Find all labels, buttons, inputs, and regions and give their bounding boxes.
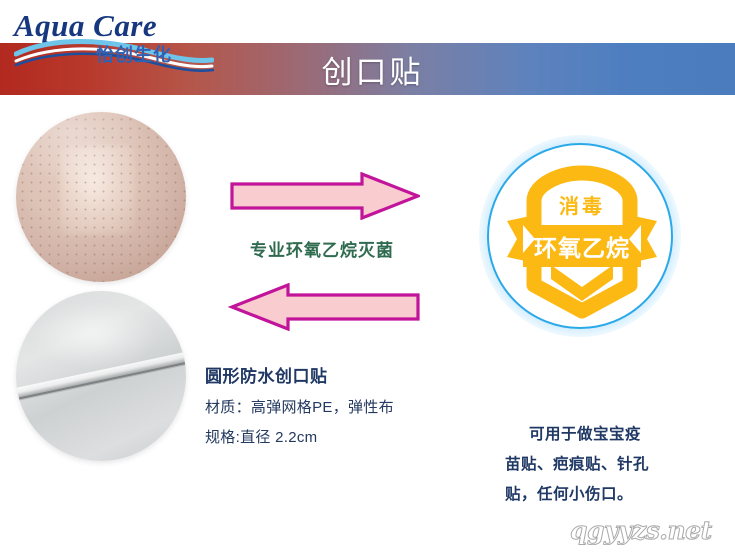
product-spec-size: 规格:直径 2.2cm xyxy=(205,426,475,447)
badge-circle: 消毒 环氧乙烷 xyxy=(487,143,673,329)
product-spec-material: 材质：高弹网格PE，弹性布 xyxy=(205,396,475,417)
usage-description-line-2: 苗贴、疤痕贴、针孔 xyxy=(505,450,715,480)
product-spec-block: 圆形防水创口贴 材质：高弹网格PE，弹性布 规格:直径 2.2cm xyxy=(205,362,475,456)
brand-logo: Aqua Care 怡创生化 xyxy=(14,6,214,86)
usage-description-line-1: 可用于做宝宝疫 xyxy=(505,420,715,450)
arrow-left-icon xyxy=(222,283,420,331)
sterilization-label: 专业环氧乙烷灭菌 xyxy=(250,236,394,261)
photo-highlight xyxy=(30,301,159,369)
site-watermark: qgyyzs.net xyxy=(570,516,712,545)
badge-ribbon-text: 环氧乙烷 xyxy=(489,237,673,260)
badge-top-text: 消毒 xyxy=(489,197,673,217)
arrow-right-icon xyxy=(230,172,420,220)
slide-canvas: Aqua Care 怡创生化 创口贴 专业环氧乙烷灭菌 圆形防水创口贴 材质：高… xyxy=(0,0,735,556)
usage-description: 可用于做宝宝疫 苗贴、疤痕贴、针孔 贴，任何小伤口。 xyxy=(505,420,715,510)
sterilization-badge: 消毒 环氧乙烷 xyxy=(487,143,673,329)
usage-description-line-3: 贴，任何小伤口。 xyxy=(505,480,715,510)
product-photo-bandage-front xyxy=(16,112,186,282)
brand-wordmark: Aqua Care xyxy=(14,10,157,41)
product-photo-bandage-back xyxy=(16,291,186,461)
product-spec-title: 圆形防水创口贴 xyxy=(205,362,475,387)
brand-chinese-name: 怡创生化 xyxy=(96,46,172,64)
